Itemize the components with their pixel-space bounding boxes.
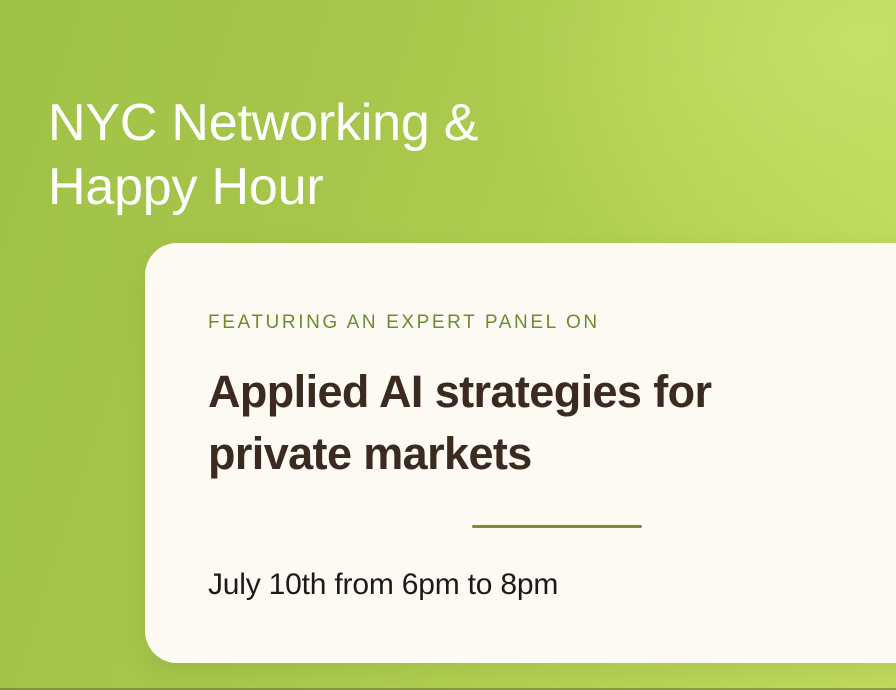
event-details-card: FEATURING AN EXPERT PANEL ON Applied AI … xyxy=(145,243,896,663)
event-hero-banner: NYC Networking & Happy Hour FEATURING AN… xyxy=(0,0,896,690)
panel-title: Applied AI strategies for private market… xyxy=(208,361,848,485)
event-datetime: July 10th from 6pm to 8pm xyxy=(208,566,896,604)
event-details-card-content: FEATURING AN EXPERT PANEL ON Applied AI … xyxy=(145,243,896,604)
card-eyebrow: FEATURING AN EXPERT PANEL ON xyxy=(208,311,896,335)
hero-headline: NYC Networking & Happy Hour xyxy=(48,91,668,219)
title-divider-rule xyxy=(472,525,642,528)
